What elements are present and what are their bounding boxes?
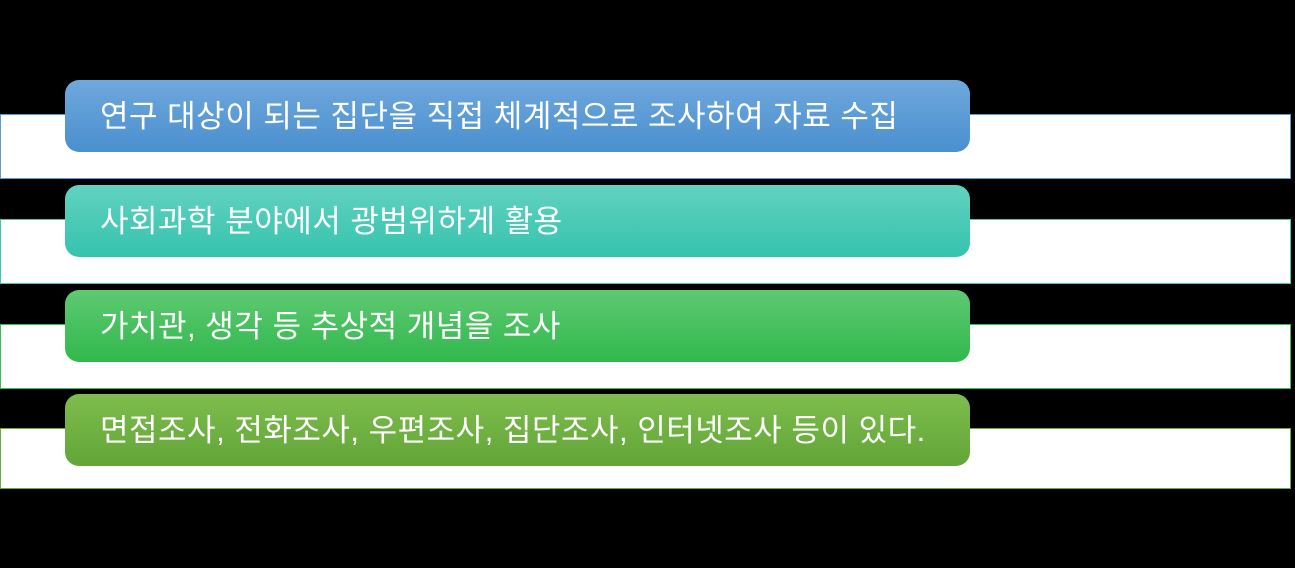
- bar-label-3: 가치관, 생각 등 추상적 개념을 조사: [65, 311, 561, 342]
- content-bar-4[interactable]: 면접조사, 전화조사, 우편조사, 집단조사, 인터넷조사 등이 있다.: [65, 394, 970, 466]
- bar-label-2: 사회과학 분야에서 광범위하게 활용: [65, 206, 563, 237]
- content-bar-2[interactable]: 사회과학 분야에서 광범위하게 활용: [65, 185, 970, 257]
- content-bar-3[interactable]: 가치관, 생각 등 추상적 개념을 조사: [65, 290, 970, 362]
- slide-canvas: 연구 대상이 되는 집단을 직접 체계적으로 조사하여 자료 수집 사회과학 분…: [0, 0, 1295, 568]
- bar-label-1: 연구 대상이 되는 집단을 직접 체계적으로 조사하여 자료 수집: [65, 101, 898, 132]
- content-bar-1[interactable]: 연구 대상이 되는 집단을 직접 체계적으로 조사하여 자료 수집: [65, 80, 970, 152]
- bar-label-4: 면접조사, 전화조사, 우편조사, 집단조사, 인터넷조사 등이 있다.: [65, 415, 926, 446]
